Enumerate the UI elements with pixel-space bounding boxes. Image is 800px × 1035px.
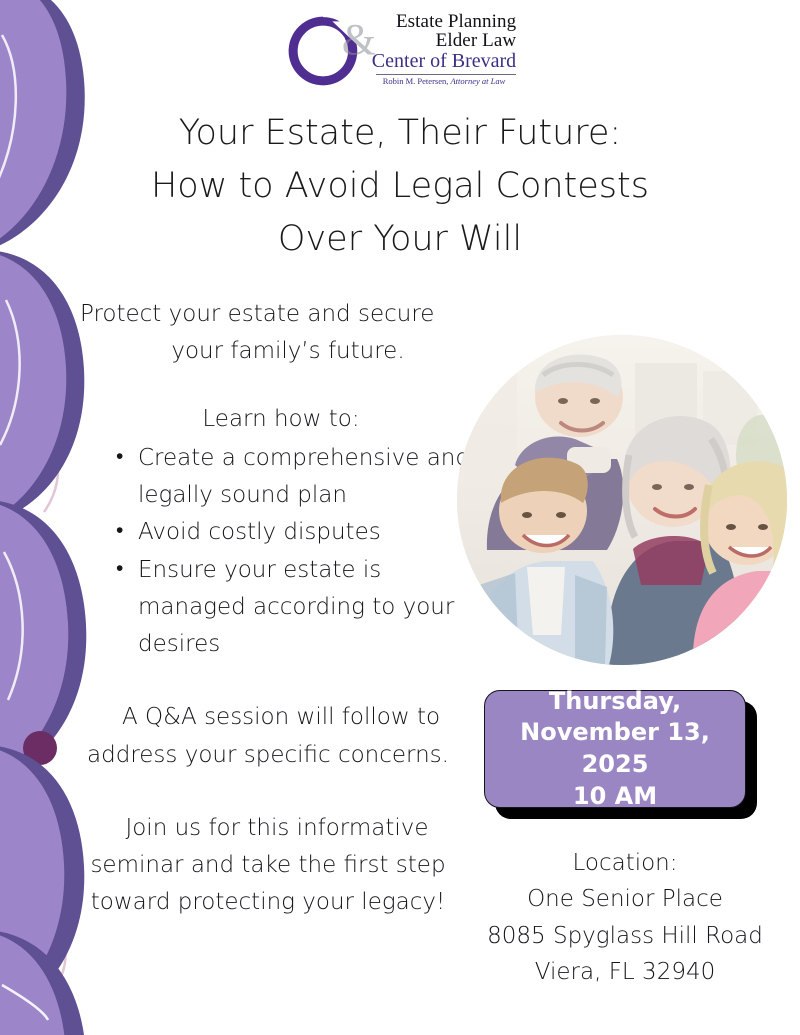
lead-line-1: Protect your estate and secure — [58, 296, 478, 333]
blob-stroke-3 — [4, 552, 23, 700]
logo-line-2: Elder Law — [346, 31, 516, 50]
accent-dot-icon — [23, 731, 57, 765]
date-badge-box: Thursday, November 13, 2025 10 AM — [484, 690, 746, 808]
qa-line-1: A Q&A session will follow to — [58, 699, 478, 736]
logo-line-3: Center of Brevard — [346, 51, 516, 72]
page-title: Your Estate, Their Future: How to Avoid … — [70, 107, 730, 267]
logo-tagline-name: Robin M. Petersen, — [383, 76, 449, 86]
brand-logo: & Estate Planning Elder Law Center of Br… — [0, 8, 800, 94]
deco-wavy-line-3 — [0, 880, 65, 992]
blob-light-5 — [0, 930, 66, 1035]
badge-time: 10 AM — [573, 781, 657, 813]
logo-tagline: Robin M. Petersen, Attorney at Law — [346, 76, 516, 86]
headline-line-1: Your Estate, Their Future: — [70, 107, 730, 160]
join-line-1: Join us for this informative — [58, 810, 478, 847]
logo-line-1: Estate Planning — [346, 12, 516, 31]
benefits-list: Create a comprehensive and legally sound… — [58, 440, 478, 664]
list-item: Ensure your estate is managed according … — [116, 552, 478, 664]
date-badge: Thursday, November 13, 2025 10 AM — [484, 690, 746, 808]
location-venue: One Senior Place — [460, 881, 790, 917]
badge-day: Thursday, — [549, 686, 681, 718]
blob-dark-5 — [0, 930, 86, 1035]
family-photo — [457, 335, 787, 665]
flyer-page: & Estate Planning Elder Law Center of Br… — [0, 0, 800, 1035]
family-photo-illustration — [457, 335, 787, 665]
qa-line-2: address your specific concerns. — [58, 737, 478, 774]
body-copy: Protect your estate and secure your fami… — [58, 296, 478, 922]
blob-group-5 — [0, 930, 86, 1035]
deco-wavy-line-2 — [0, 790, 61, 918]
join-paragraph: Join us for this informative seminar and… — [58, 810, 478, 922]
join-line-3: toward protecting your legacy! — [58, 884, 478, 921]
headline-line-2: How to Avoid Legal Contests — [70, 160, 730, 213]
list-item: Create a comprehensive and legally sound… — [116, 440, 478, 515]
blob-light-4 — [0, 745, 64, 1027]
logo-divider — [376, 74, 516, 75]
badge-date: November 13, 2025 — [485, 717, 745, 780]
qa-paragraph: A Q&A session will follow to address you… — [58, 699, 478, 774]
lead-paragraph: Protect your estate and secure your fami… — [58, 296, 478, 371]
location-block: Location: One Senior Place 8085 Spyglass… — [460, 845, 790, 990]
blob-stroke-5 — [2, 985, 48, 1020]
deco-wavy-line-1 — [0, 395, 58, 512]
learn-heading: Learn how to: — [58, 401, 478, 438]
list-item: Avoid costly disputes — [116, 514, 478, 551]
location-street: 8085 Spyglass Hill Road — [460, 918, 790, 954]
blob-light-2 — [0, 250, 66, 530]
location-city-state-zip: Viera, FL 32940 — [460, 954, 790, 990]
headline-line-3: Over Your Will — [70, 213, 730, 266]
lead-line-2: your family’s future. — [58, 333, 478, 370]
location-label: Location: — [460, 845, 790, 881]
join-line-2: seminar and take the first step — [58, 847, 478, 884]
blob-stroke-2 — [0, 300, 20, 445]
logo-tagline-title: Attorney at Law — [450, 76, 505, 86]
